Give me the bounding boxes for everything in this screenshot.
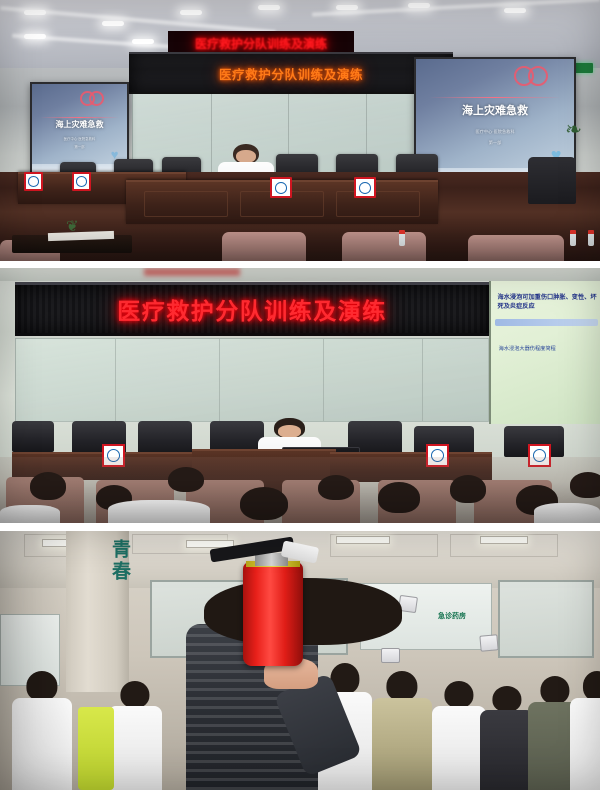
fire-extinguisher [243, 562, 303, 666]
crowd-member [480, 681, 534, 790]
crowd-member [570, 666, 600, 790]
ceiling-light [480, 536, 528, 544]
crowd-member [12, 666, 72, 790]
smartphone [479, 634, 498, 651]
safety-vest [78, 707, 114, 790]
name-placard [270, 177, 292, 198]
led-strip-glow [144, 268, 240, 276]
speaker-face [278, 425, 302, 438]
slide-title: 海上灾难急救 [416, 102, 574, 118]
name-placard [24, 172, 43, 190]
slide-bullet-text: 海水浸泡大器伤程度简程 [499, 346, 597, 354]
ceiling-light [504, 8, 526, 13]
conference-chair [138, 421, 192, 454]
name-placard [72, 172, 91, 190]
audience-shoulders [0, 505, 60, 523]
slide-title: 海上灾难急救 [32, 119, 127, 130]
photo-panel-auditorium-wide: 医疗救护分队训练及演练 医疗救护分队训练及演练 海上灾难急救 医疗中心·医院急救… [0, 0, 600, 261]
water-bottle [570, 230, 576, 246]
led-banner-board: 医疗救护分队训练及演练 [129, 52, 453, 94]
audience-shoulders [534, 503, 600, 523]
side-armchair [528, 157, 576, 204]
lobby-column: 青春 [66, 531, 129, 692]
led-banner-text: 医疗救护分队训练及演练 [219, 64, 363, 83]
panel-3-scene: 青春 急诊药房 急诊药房 [0, 531, 600, 790]
panel-1-scene: 医疗救护分队训练及演练 医疗救护分队训练及演练 海上灾难急救 医疗中心·医院急救… [0, 0, 600, 261]
red-rings-logo-icon [528, 66, 548, 86]
ceiling-light [24, 10, 46, 15]
ceiling-light [24, 34, 46, 39]
glass-partition [15, 338, 489, 422]
conference-chair [12, 421, 54, 452]
red-rings-logo-icon [89, 91, 104, 106]
audience-seat [468, 235, 564, 261]
slide-divider-bar [495, 319, 597, 326]
slide-subtitle-1: 医疗中心·医院急救科 [416, 129, 574, 135]
ceiling-light [408, 3, 430, 8]
upper-wall-strip [0, 268, 600, 281]
projection-screen-right: 海水浸泡可加重伤口肿胀、变性、坏死及炎症反应 海水浸泡大器伤程度简程 [489, 281, 600, 424]
speaker-face [236, 150, 256, 163]
audience-head [168, 467, 204, 493]
crowd-member [432, 676, 486, 790]
ceiling-light [336, 5, 358, 10]
panel-2-scene: 医疗救护分队训练及演练 海水浸泡可加重伤口肿胀、变性、坏死及炎症反应 海水浸泡大… [0, 268, 600, 523]
led-banner-board: 医疗救护分队训练及演练 [15, 282, 489, 336]
photo-panel-auditorium-close: 医疗救护分队训练及演练 海水浸泡可加重伤口肿胀、变性、坏死及炎症反应 海水浸泡大… [0, 268, 600, 523]
audience-head [318, 475, 354, 501]
name-placard [354, 177, 376, 198]
water-bottle [399, 230, 405, 246]
photo-panel-fire-drill: 青春 急诊药房 急诊药房 [0, 531, 600, 790]
demonstrator-head [204, 578, 402, 645]
audience-head [30, 472, 66, 500]
ceiling-light [336, 536, 390, 544]
crowd-member-uniform [372, 666, 432, 790]
ceiling-light [180, 10, 202, 15]
glass-door [498, 580, 594, 658]
led-strip-text: 医疗救护分队训练及演练 [195, 35, 327, 52]
audience-head [240, 487, 288, 520]
photo-collage: 医疗救护分队训练及演练 医疗救护分队训练及演练 海上灾难急救 医疗中心·医院急救… [0, 0, 600, 790]
slide-heading: 海水浸泡可加重伤口肿胀、变性、坏死及炎症反应 [498, 294, 598, 312]
ceiling-light [102, 21, 124, 26]
audience-head [450, 475, 486, 503]
smartphone [381, 648, 400, 664]
ceiling-light [258, 5, 280, 10]
led-banner-text: 医疗救护分队训练及演练 [117, 292, 387, 326]
audience-seat [222, 232, 306, 261]
audience-head [378, 482, 420, 513]
crowd-member [108, 676, 162, 790]
column-calligraphy-text: 青春 [66, 539, 129, 583]
audience-seat [342, 232, 426, 261]
ceiling-light [132, 39, 154, 44]
water-bottle [588, 230, 594, 246]
slide-subtitle-1: 医疗中心·医院急救科 [32, 136, 127, 141]
audience-head [570, 472, 600, 498]
potted-plant: ❧ [565, 120, 582, 140]
audience-shoulders [108, 500, 210, 523]
pharmacy-sign: 急诊药房 [438, 611, 466, 621]
